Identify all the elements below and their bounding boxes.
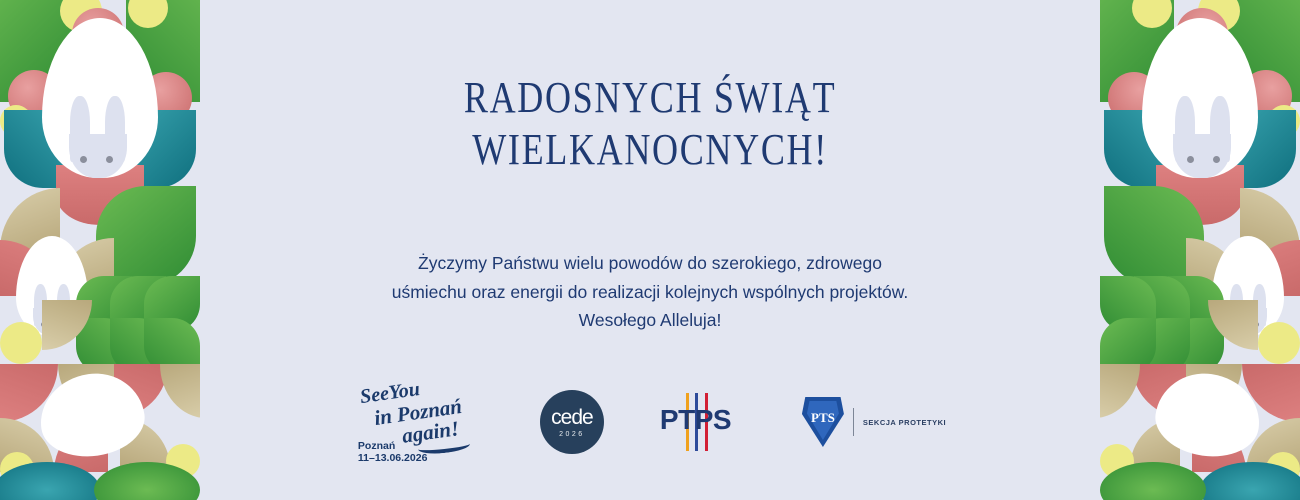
cede-wordmark: cede: [551, 407, 593, 428]
greeting-message: Życzymy Państwu wielu powodów do szeroki…: [392, 249, 909, 334]
syp-city: Poznań: [358, 440, 395, 452]
circle-shape: [0, 322, 42, 364]
message-line-1: Życzymy Państwu wielu powodów do szeroki…: [392, 249, 909, 277]
cede-year: 2026: [559, 431, 585, 438]
cede-logo[interactable]: cede 2026: [540, 390, 604, 454]
headline-line-1: RADOSNYCH ŚWIĄT: [464, 72, 836, 124]
message-line-3: Wesołego Alleluja!: [392, 306, 909, 334]
pts-subtitle: SEKCJA PROTETYKI: [863, 418, 946, 427]
bunny-eye: [80, 156, 87, 163]
bunny-egg-motif: [1142, 18, 1258, 178]
easter-greeting-card: RADOSNYCH ŚWIĄT WIELKANOCNYCH! Życzymy P…: [0, 0, 1300, 500]
bunny-eye: [1213, 156, 1220, 163]
pts-shield-icon: PTS: [802, 397, 844, 447]
message-line-2: uśmiechu oraz energii do realizacji kole…: [392, 278, 909, 306]
ptps-logo[interactable]: PTPS: [660, 393, 746, 451]
page-title: RADOSNYCH ŚWIĄT WIELKANOCNYCH!: [423, 72, 877, 176]
pts-divider: [853, 408, 854, 436]
bunny-eye: [106, 156, 113, 163]
circle-shape: [1258, 322, 1300, 364]
syp-dates: 11–13.06.2026: [358, 452, 428, 464]
ptps-wordmark: PTPS: [660, 404, 746, 436]
headline-line-2: WIELKANOCNYCH!: [464, 124, 836, 176]
see-you-poznan-logo[interactable]: SeeYou in Poznań again! Poznań 11–13.06.…: [354, 382, 484, 462]
logo-row: SeeYou in Poznań again! Poznań 11–13.06.…: [0, 382, 1300, 462]
bunny-eye: [1187, 156, 1194, 163]
pts-logo[interactable]: PTS SEKCJA PROTETYKI: [802, 397, 946, 447]
pts-shield-text: PTS: [802, 410, 844, 426]
bunny-egg-motif: [42, 18, 158, 178]
